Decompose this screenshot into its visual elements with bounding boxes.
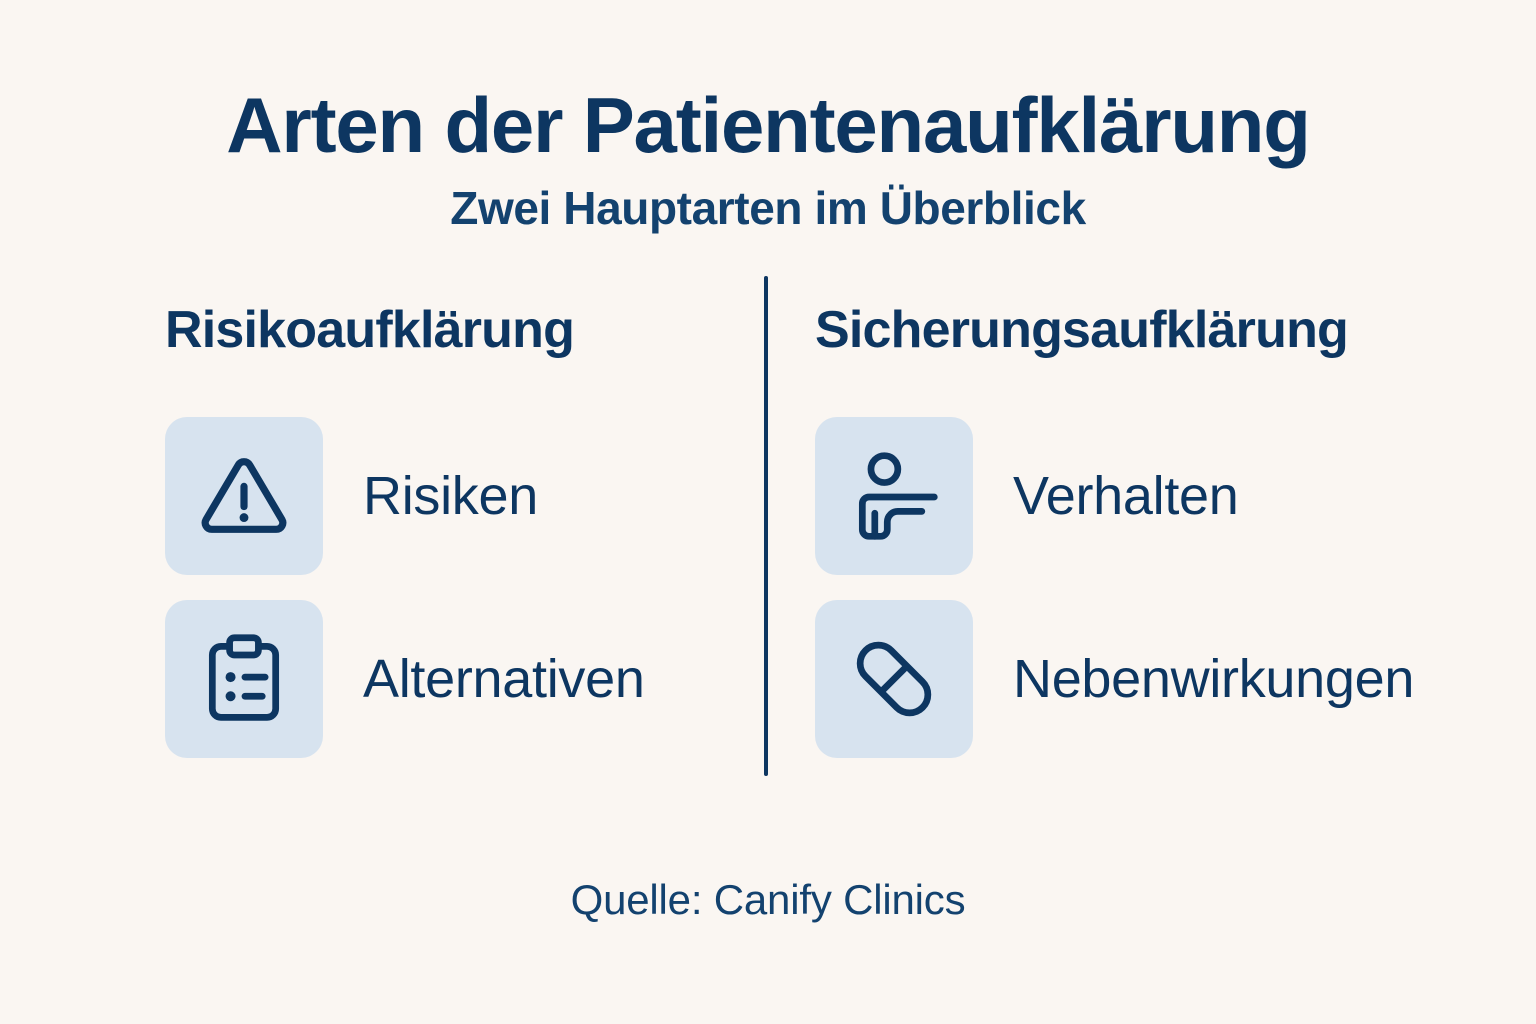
list-item[interactable]: Alternativen	[165, 600, 755, 758]
columns-container: Risikoaufklärung Risiken	[0, 276, 1536, 836]
list-item-label: Alternativen	[363, 648, 645, 710]
warning-triangle-icon	[196, 448, 292, 544]
column-sicherungsaufklaerung: Sicherungsaufklärung Verhalten	[815, 276, 1515, 758]
source-attribution: Quelle: Canify Clinics	[0, 876, 1536, 924]
header: Arten der Patientenaufklärung Zwei Haupt…	[0, 0, 1536, 232]
column-heading-left: Risikoaufklärung	[165, 302, 755, 359]
pill-capsule-icon	[846, 631, 942, 727]
list-item[interactable]: Verhalten	[815, 417, 1515, 575]
icon-tile	[815, 600, 973, 758]
column-risikoaufklaerung: Risikoaufklärung Risiken	[165, 276, 755, 758]
item-list-left: Risiken Alternativen	[165, 417, 755, 758]
infographic-root: Arten der Patientenaufklärung Zwei Haupt…	[0, 0, 1536, 1024]
page-title: Arten der Patientenaufklärung	[0, 86, 1536, 166]
person-pointing-icon	[846, 448, 942, 544]
column-heading-right: Sicherungsaufklärung	[815, 302, 1515, 359]
item-list-right: Verhalten Nebenwirkungen	[815, 417, 1515, 758]
page-subtitle: Zwei Hauptarten im Überblick	[0, 184, 1536, 232]
icon-tile	[165, 600, 323, 758]
vertical-divider	[764, 276, 768, 776]
icon-tile	[165, 417, 323, 575]
list-item-label: Nebenwirkungen	[1013, 648, 1414, 710]
clipboard-list-icon	[196, 631, 292, 727]
list-item[interactable]: Risiken	[165, 417, 755, 575]
list-item-label: Risiken	[363, 465, 538, 527]
icon-tile	[815, 417, 973, 575]
footer: Quelle: Canify Clinics	[0, 876, 1536, 924]
list-item-label: Verhalten	[1013, 465, 1238, 527]
list-item[interactable]: Nebenwirkungen	[815, 600, 1515, 758]
